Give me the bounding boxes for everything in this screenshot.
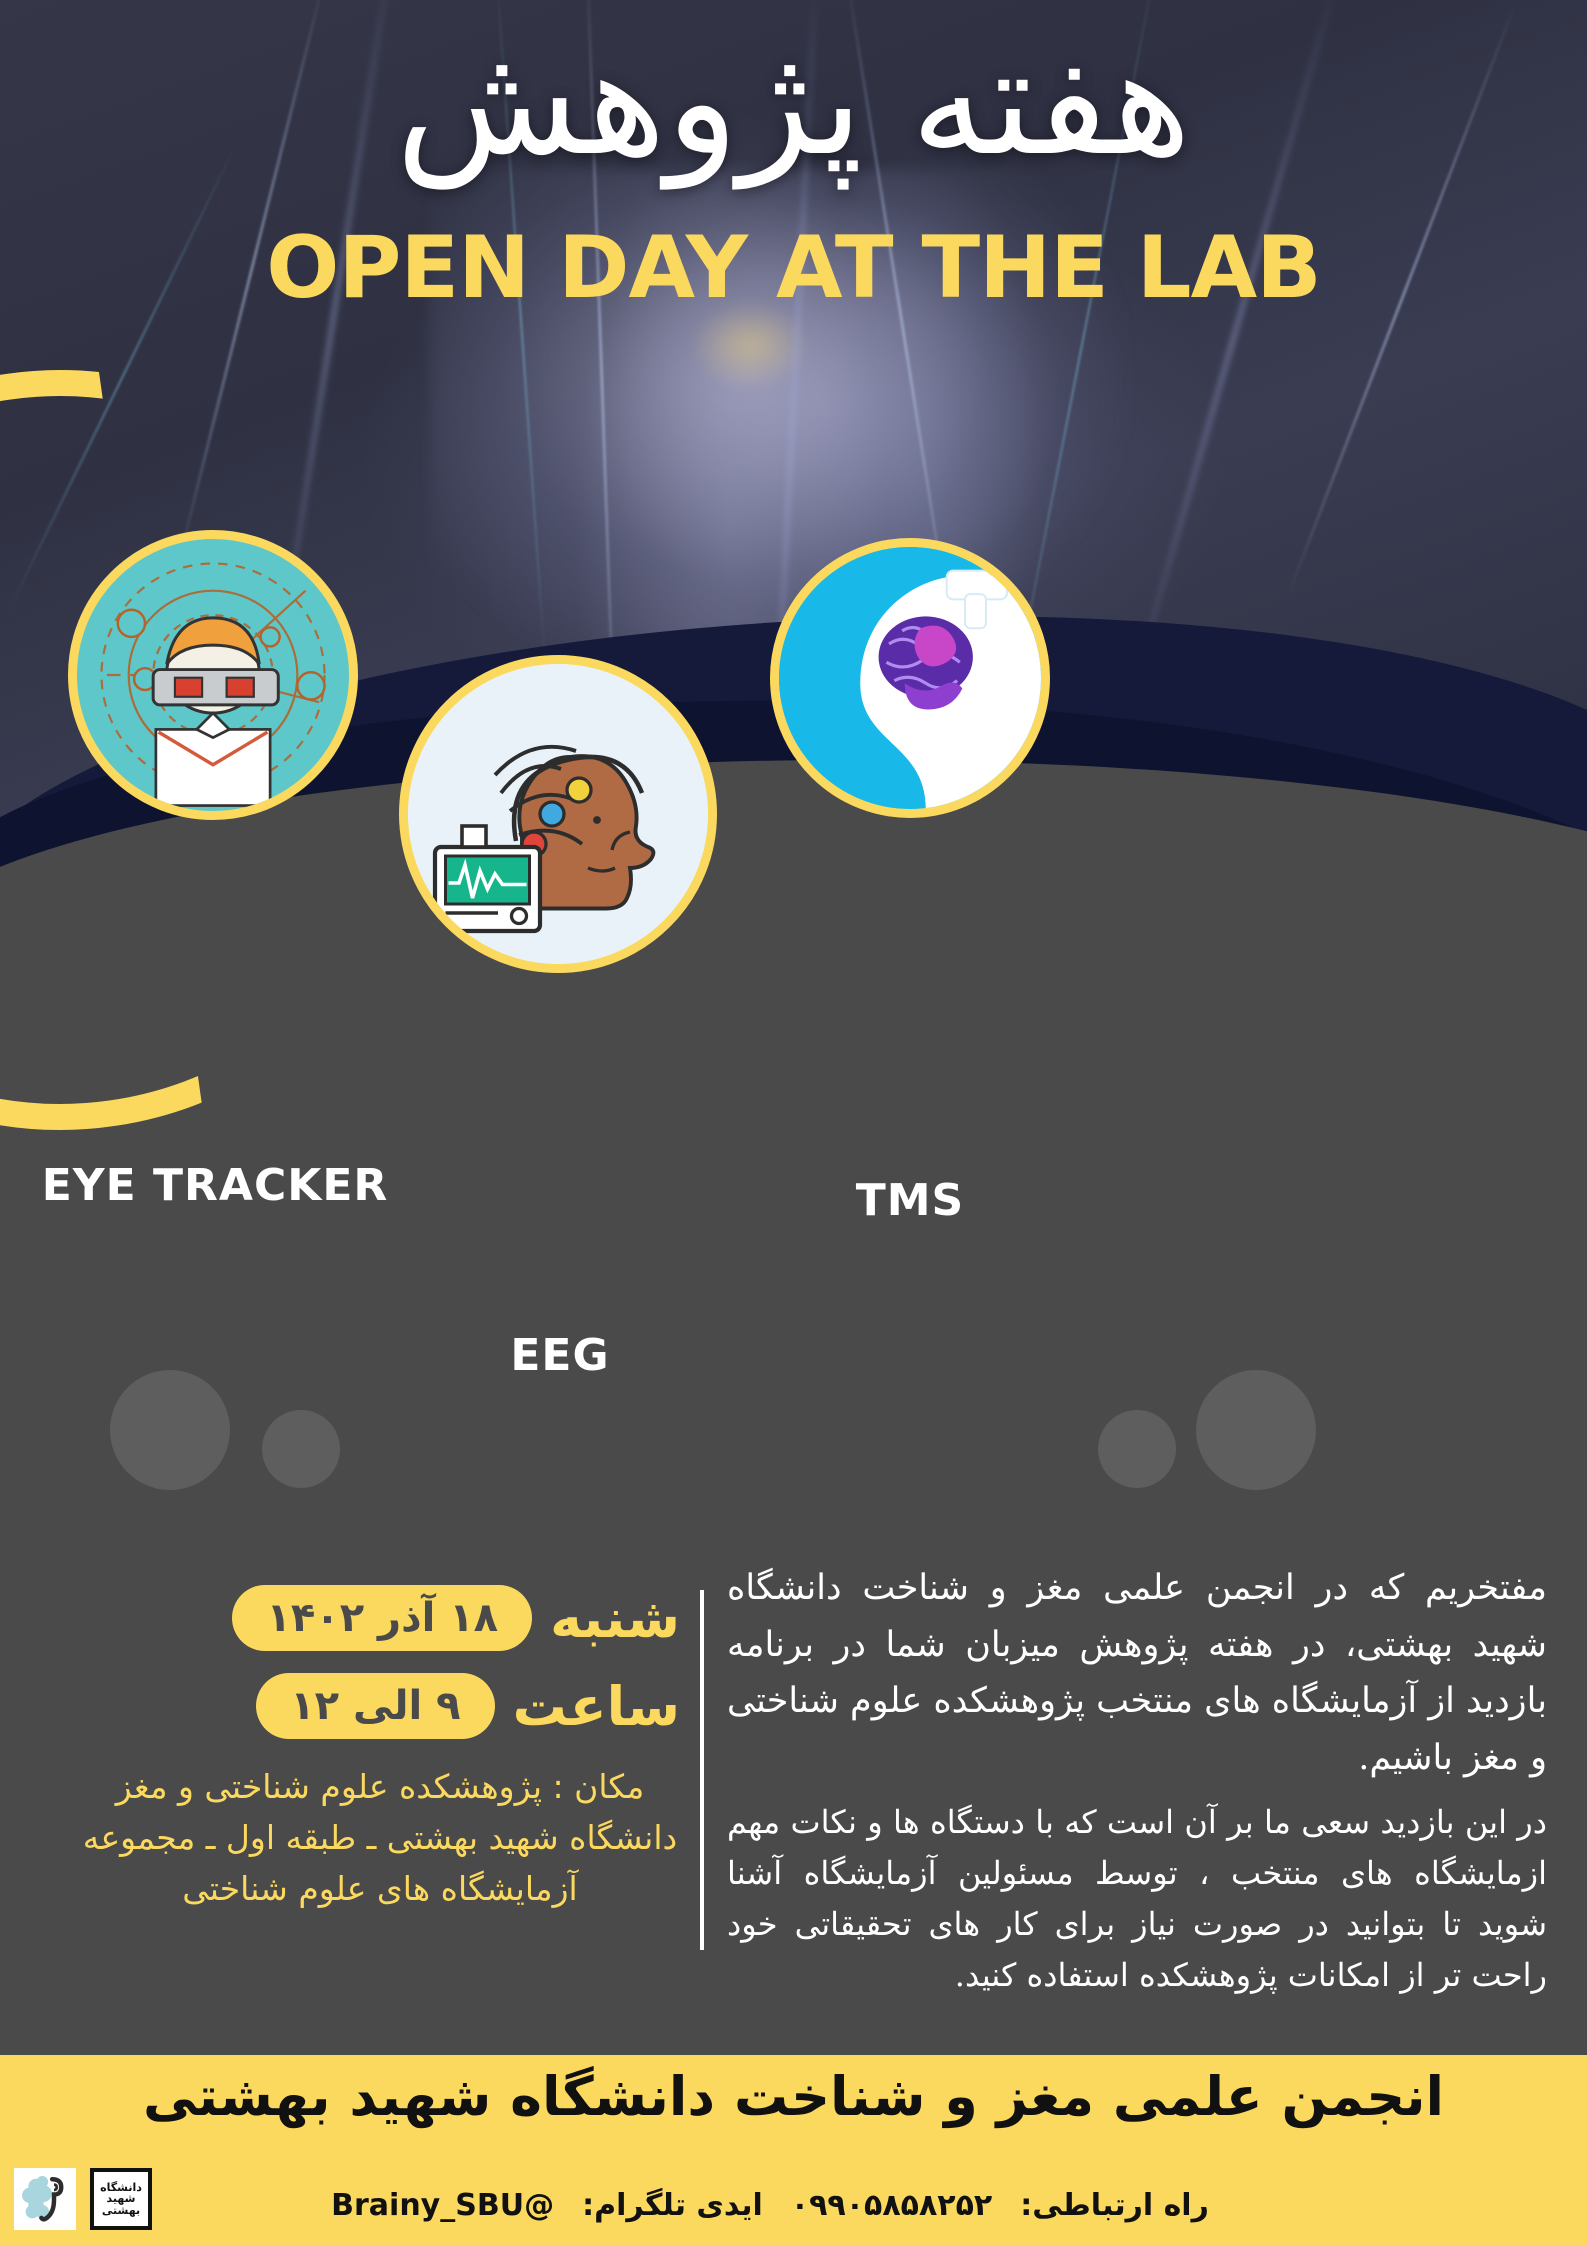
- brain-glyph-icon: [18, 2172, 72, 2226]
- decorative-blob: [1196, 1370, 1316, 1490]
- device-circle-tms[interactable]: [770, 538, 1050, 818]
- device-label-eye-tracker: EYE TRACKER: [40, 1160, 390, 1211]
- decorative-blob: [110, 1370, 230, 1490]
- decorative-blob: [262, 1410, 340, 1488]
- event-day-label: شنبه: [550, 1587, 680, 1650]
- description-block: مفتخریم که در انجمن علمی مغز و شناخت دان…: [727, 1560, 1547, 2002]
- event-time-pill: ۹ الی ۱۲: [256, 1673, 494, 1739]
- tms-coil-icon: [779, 547, 1041, 809]
- description-paragraph-2: در این بازدید سعی ما بر آن است که با دست…: [727, 1797, 1547, 2002]
- event-info-block: شنبه ۱۸ آذر ۱۴۰۲ ساعت ۹ الی ۱۲ مکان : پژ…: [60, 1585, 680, 1914]
- poster-title-persian: هفته پژوهش: [0, 24, 1587, 182]
- eye-tracker-icon: [77, 539, 349, 811]
- device-circle-eye-tracker[interactable]: [68, 530, 358, 820]
- vertical-divider: [700, 1590, 704, 1950]
- poster-root: هفته پژوهش OPEN DAY AT THE LAB: [0, 0, 1587, 2245]
- device-label-tms: TMS: [760, 1175, 1060, 1226]
- event-location-text: مکان : پژوهشکده علوم شناختی و مغز دانشگا…: [80, 1761, 680, 1914]
- contact-phone: ۰۹۹۰۵۸۵۸۲۵۲: [791, 2188, 992, 2223]
- device-circle-eeg[interactable]: [399, 655, 717, 973]
- telegram-handle[interactable]: @Brainy_SBU: [331, 2188, 554, 2223]
- poster-title-english: OPEN DAY AT THE LAB: [0, 218, 1587, 318]
- decorative-blob: [1098, 1410, 1176, 1488]
- eeg-headset-icon: [408, 664, 708, 964]
- event-date-pill: ۱۸ آذر ۱۴۰۲: [232, 1585, 532, 1651]
- event-date-row: شنبه ۱۸ آذر ۱۴۰۲: [60, 1585, 680, 1651]
- device-label-eeg: EEG: [420, 1330, 700, 1381]
- sbu-university-logo: دانشگاه شهید بهشتی: [90, 2168, 152, 2230]
- contact-label: راه ارتباطی:: [1020, 2188, 1209, 2223]
- footer-logos: دانشگاه شهید بهشتی: [14, 2168, 152, 2230]
- footer-organization-name: انجمن علمی مغز و شناخت دانشگاه شهید بهشت…: [0, 2065, 1587, 2128]
- event-time-row: ساعت ۹ الی ۱۲: [60, 1673, 680, 1739]
- footer-contact-line: راه ارتباطی:۰۹۹۰۵۸۵۸۲۵۲ایدی تلگرام:@Brai…: [0, 2188, 1540, 2223]
- brain-logo-icon: [14, 2168, 76, 2230]
- description-paragraph-1: مفتخریم که در انجمن علمی مغز و شناخت دان…: [727, 1560, 1547, 1787]
- event-time-label: ساعت: [513, 1675, 680, 1738]
- telegram-label: ایدی تلگرام:: [582, 2188, 763, 2223]
